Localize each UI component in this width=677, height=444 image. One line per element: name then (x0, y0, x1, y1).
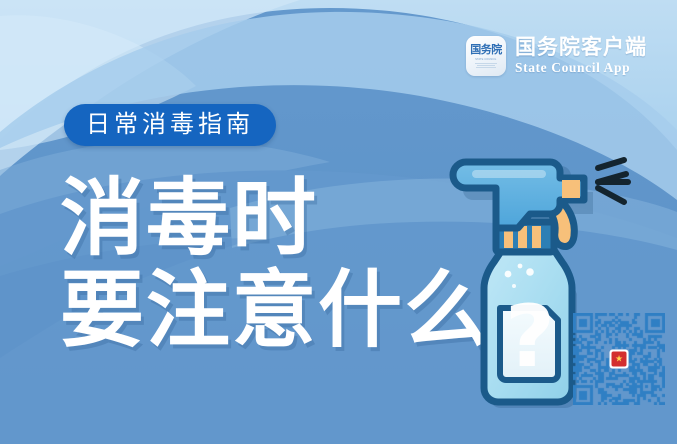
nozzle-tip (562, 180, 580, 198)
poster-canvas: 国务院 STATE COUNCIL 国务院客户端 State Council A… (0, 0, 677, 444)
brand-lockup: 国务院 STATE COUNCIL 国务院客户端 State Council A… (466, 36, 647, 76)
logo-mark-lines (475, 63, 497, 68)
mist-line-4 (598, 188, 624, 202)
logo-mark-cn: 国务院 (470, 45, 502, 56)
category-badge-label: 日常消毒指南 (86, 112, 254, 136)
question-mark-glyph: ? (505, 287, 555, 387)
question-mark-overlay: ? (505, 287, 555, 387)
logo-mark-sub: STATE COUNCIL (475, 57, 496, 61)
state-council-app-logo-icon: 国务院 STATE COUNCIL (466, 36, 506, 76)
collar-stripe-3 (532, 226, 541, 248)
bubble-3 (526, 268, 534, 276)
brand-name-en: State Council App (515, 61, 647, 75)
category-badge: 日常消毒指南 (64, 104, 276, 146)
national-emblem-icon: ★ (610, 350, 629, 369)
bubble-2 (518, 264, 523, 269)
emblem-star: ★ (612, 352, 627, 367)
brand-text: 国务院客户端 State Council App (515, 37, 647, 75)
mist-line-1 (598, 160, 624, 168)
bubble-1 (505, 271, 512, 278)
brand-name-cn: 国务院客户端 (515, 37, 647, 58)
mist-lines (598, 160, 628, 202)
head-highlight (472, 170, 546, 178)
qr-code[interactable]: ★ (573, 313, 665, 405)
